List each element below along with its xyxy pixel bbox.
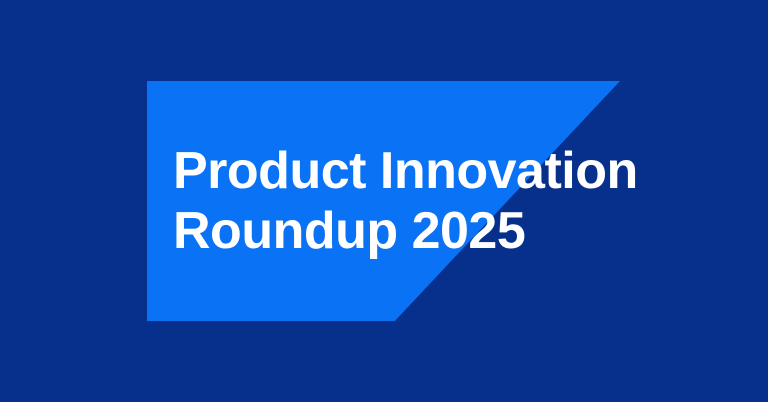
banner-headline-line-2: Roundup 2025 xyxy=(173,201,733,261)
banner-headline: Product Innovation Roundup 2025 xyxy=(173,141,733,261)
banner-headline-line-1: Product Innovation xyxy=(173,141,733,201)
promo-banner: Product Innovation Roundup 2025 xyxy=(0,0,768,402)
